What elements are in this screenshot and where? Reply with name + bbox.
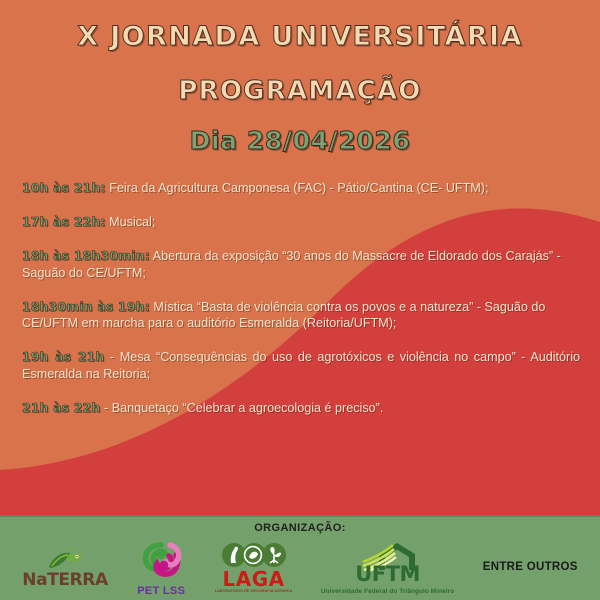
logo-naterra-text-b: TERRA bbox=[47, 570, 108, 590]
logo-pet-lss-caption: PET LSS bbox=[137, 586, 185, 597]
schedule-item-time: 10h às 21h: bbox=[22, 180, 106, 195]
schedule-item-description: - Mesa “Consequências do uso de agrotóxi… bbox=[22, 350, 580, 381]
agrarian-emblem-icon bbox=[222, 542, 286, 568]
leaf-chameleon-icon bbox=[43, 547, 87, 571]
schedule-item: 21h às 22h - Banquetaço “Celebrar a agro… bbox=[22, 400, 580, 417]
logo-naterra-wordmark: NaTERRA bbox=[22, 572, 107, 589]
page-title: X JORNADA UNIVERSITÁRIA bbox=[0, 0, 600, 52]
logo-naterra[interactable]: NaTERRA bbox=[22, 547, 107, 589]
schedule-item: 18h às 18h30min: Abertura da exposição “… bbox=[22, 248, 580, 282]
schedule-item: 17h às 22h: Musical; bbox=[22, 214, 580, 231]
schedule-list: 10h às 21h: Feira da Agricultura Campone… bbox=[22, 180, 580, 434]
schedule-item: 19h às 21h - Mesa “Consequências do uso … bbox=[22, 349, 580, 383]
poster-footer: ORGANIZAÇÃO: NaTERRA bbox=[0, 515, 600, 600]
logo-laga[interactable]: LAGA LABORATÓRIO DE GEOGRAFIA AGRÁRIA bbox=[215, 542, 293, 594]
schedule-item-time: 21h às 22h bbox=[22, 400, 101, 415]
logo-naterra-text-a: Na bbox=[22, 570, 47, 590]
schedule-item: 18h30min às 19h: Mística “Basta de violê… bbox=[22, 299, 580, 333]
schedule-item-description: Feira da Agricultura Camponesa (FAC) - P… bbox=[106, 181, 489, 195]
event-date: Dia 28/04/2026 bbox=[0, 105, 600, 155]
schedule-item-time: 18h às 18h30min: bbox=[22, 248, 150, 263]
page-subtitle: PROGRAMAÇÃO bbox=[0, 52, 600, 106]
logo-uftm[interactable]: UFTM Universidade Federal do Triângulo M… bbox=[321, 540, 454, 597]
entre-outros-note: ENTRE OUTROS bbox=[483, 562, 578, 574]
entre-outros-label: ENTRE OUTROS bbox=[483, 562, 578, 574]
poster-canvas: X JORNADA UNIVERSITÁRIA PROGRAMAÇÃO Dia … bbox=[0, 0, 600, 600]
schedule-item: 10h às 21h: Feira da Agricultura Campone… bbox=[22, 180, 580, 197]
schedule-item-time: 18h30min às 19h: bbox=[22, 299, 150, 314]
schedule-item-time: 17h às 22h: bbox=[22, 214, 106, 229]
footer-divider bbox=[0, 515, 600, 517]
logo-laga-subcaption: LABORATÓRIO DE GEOGRAFIA AGRÁRIA bbox=[215, 590, 293, 594]
schedule-item-time: 19h às 21h bbox=[22, 349, 105, 364]
triskelion-icon bbox=[136, 539, 186, 583]
logo-uftm-wordmark: UFTM bbox=[355, 564, 420, 585]
sponsor-logo-row: NaTERRA PET LSS bbox=[0, 537, 600, 599]
logo-pet-lss[interactable]: PET LSS bbox=[136, 539, 186, 597]
poster-header: X JORNADA UNIVERSITÁRIA PROGRAMAÇÃO Dia … bbox=[0, 0, 600, 155]
logo-uftm-subcaption: Universidade Federal do Triângulo Mineir… bbox=[321, 588, 454, 597]
schedule-item-description: Musical; bbox=[106, 215, 156, 229]
logo-laga-wordmark: LAGA bbox=[222, 569, 284, 589]
schedule-item-description: - Banquetaço “Celebrar a agroecologia é … bbox=[101, 401, 384, 415]
organization-label: ORGANIZAÇÃO: bbox=[0, 522, 600, 534]
